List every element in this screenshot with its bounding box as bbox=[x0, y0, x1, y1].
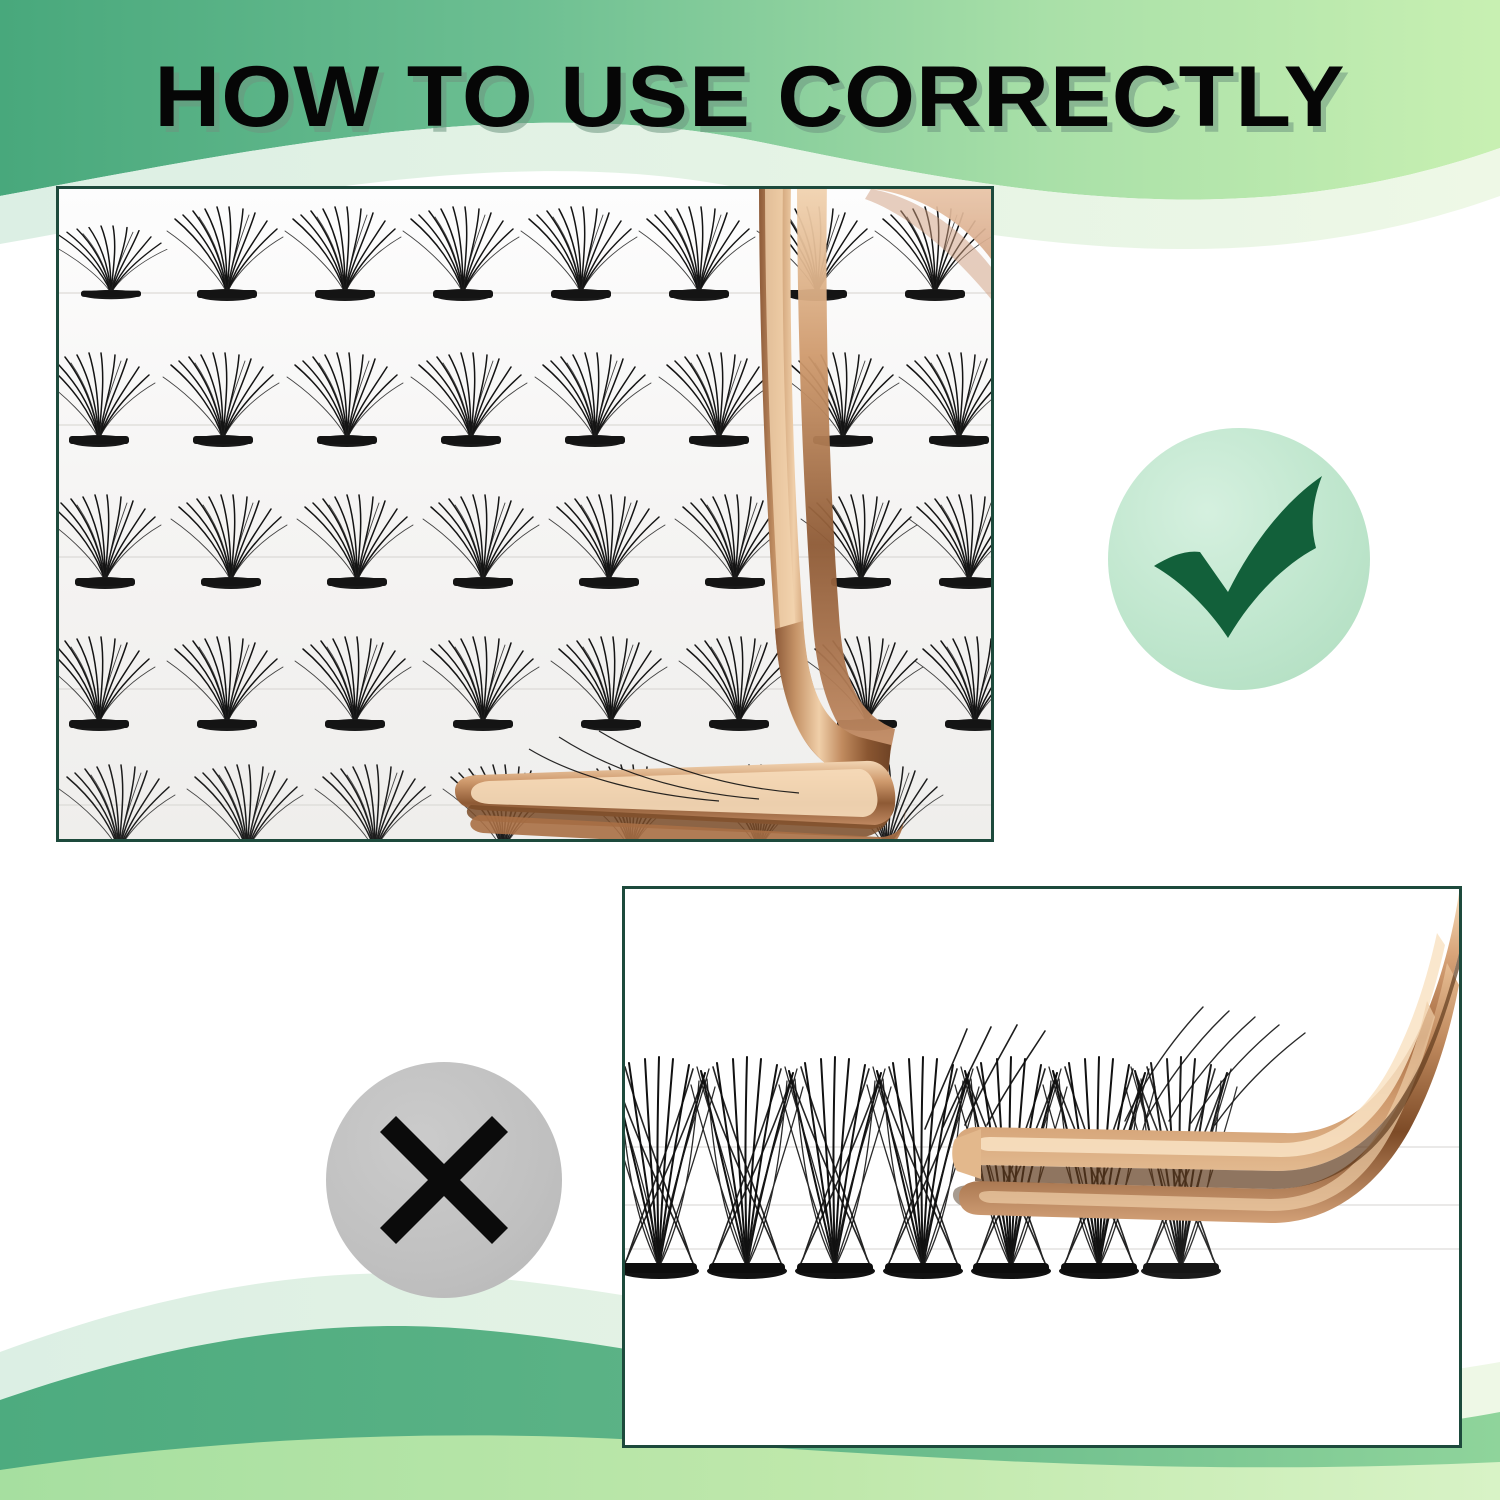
photo-correct-inner bbox=[59, 189, 991, 839]
cross-icon bbox=[374, 1110, 514, 1250]
correct-badge bbox=[1108, 428, 1370, 690]
photo-incorrect-usage bbox=[622, 886, 1462, 1448]
incorrect-badge bbox=[326, 1062, 562, 1298]
check-icon bbox=[1144, 474, 1334, 644]
photo-incorrect-inner bbox=[625, 889, 1459, 1445]
lash-tray-side-illustration bbox=[625, 889, 1459, 1445]
photo-correct-usage bbox=[56, 186, 994, 842]
lash-tray-top-illustration bbox=[59, 189, 991, 839]
poster-canvas: HOW TO USE CORRECTLY bbox=[0, 0, 1500, 1500]
page-title: HOW TO USE CORRECTLY bbox=[0, 52, 1500, 142]
